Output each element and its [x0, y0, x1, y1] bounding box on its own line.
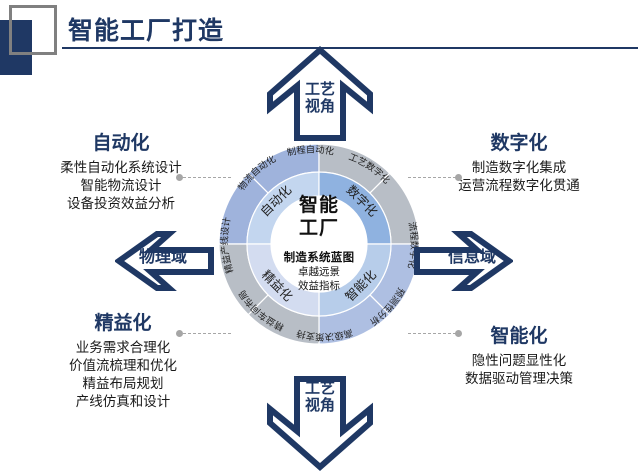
arrow-left-physical-domain [115, 230, 215, 292]
connector-dot-bottom-left [176, 330, 183, 337]
corner-line: 数据驱动管理决策 [406, 370, 632, 388]
corner-line: 业务需求合理化 [10, 339, 236, 357]
wheel-center-disc [271, 196, 367, 292]
corner-line: 精益布局规划 [10, 375, 236, 393]
corner-line: 价值流梳理和优化 [10, 357, 236, 375]
corner-line: 运营流程数字化贯通 [406, 177, 632, 195]
corner-heading-intelligence: 智能化 [406, 324, 632, 349]
corner-heading-digitalization: 数字化 [406, 131, 632, 156]
corner-block-digitalization: 数字化 制造数字化集成 运营流程数字化贯通 [406, 131, 632, 195]
logo-outline-square [9, 5, 57, 55]
connector-dot-bottom-right [455, 330, 462, 337]
corner-line: 设备投资效益分析 [8, 195, 234, 213]
arrow-down-process-view [265, 375, 375, 471]
arrow-right-information-domain [413, 230, 513, 292]
connector-dot-top-left [176, 174, 183, 181]
corner-line: 隐性问题显性化 [406, 352, 632, 370]
connector-dot-top-right [455, 174, 462, 181]
corner-heading-automation: 自动化 [8, 131, 234, 156]
corner-block-automation: 自动化 柔性自动化系统设计 智能物流设计 设备投资效益分析 [8, 131, 234, 213]
arrow-up-process-view [265, 46, 375, 142]
infographic-canvas: 智能工厂打造 自动化 柔性自动化系统设计 智能物流设计 设备投资效益分析 数字化… [0, 0, 638, 472]
corner-line: 制造数字化集成 [406, 159, 632, 177]
corner-block-lean: 精益化 业务需求合理化 价值流梳理和优化 精益布局规划 产线仿真和设计 [10, 311, 236, 411]
page-title: 智能工厂打造 [68, 11, 224, 47]
corner-line: 产线仿真和设计 [10, 393, 236, 411]
corner-line: 智能物流设计 [8, 177, 234, 195]
corner-line: 柔性自动化系统设计 [8, 159, 234, 177]
smart-factory-wheel: 物流自动化 制程自动化 工艺数字化 流程数字化 预测性分析 高级决策支持 精益车… [214, 139, 424, 349]
